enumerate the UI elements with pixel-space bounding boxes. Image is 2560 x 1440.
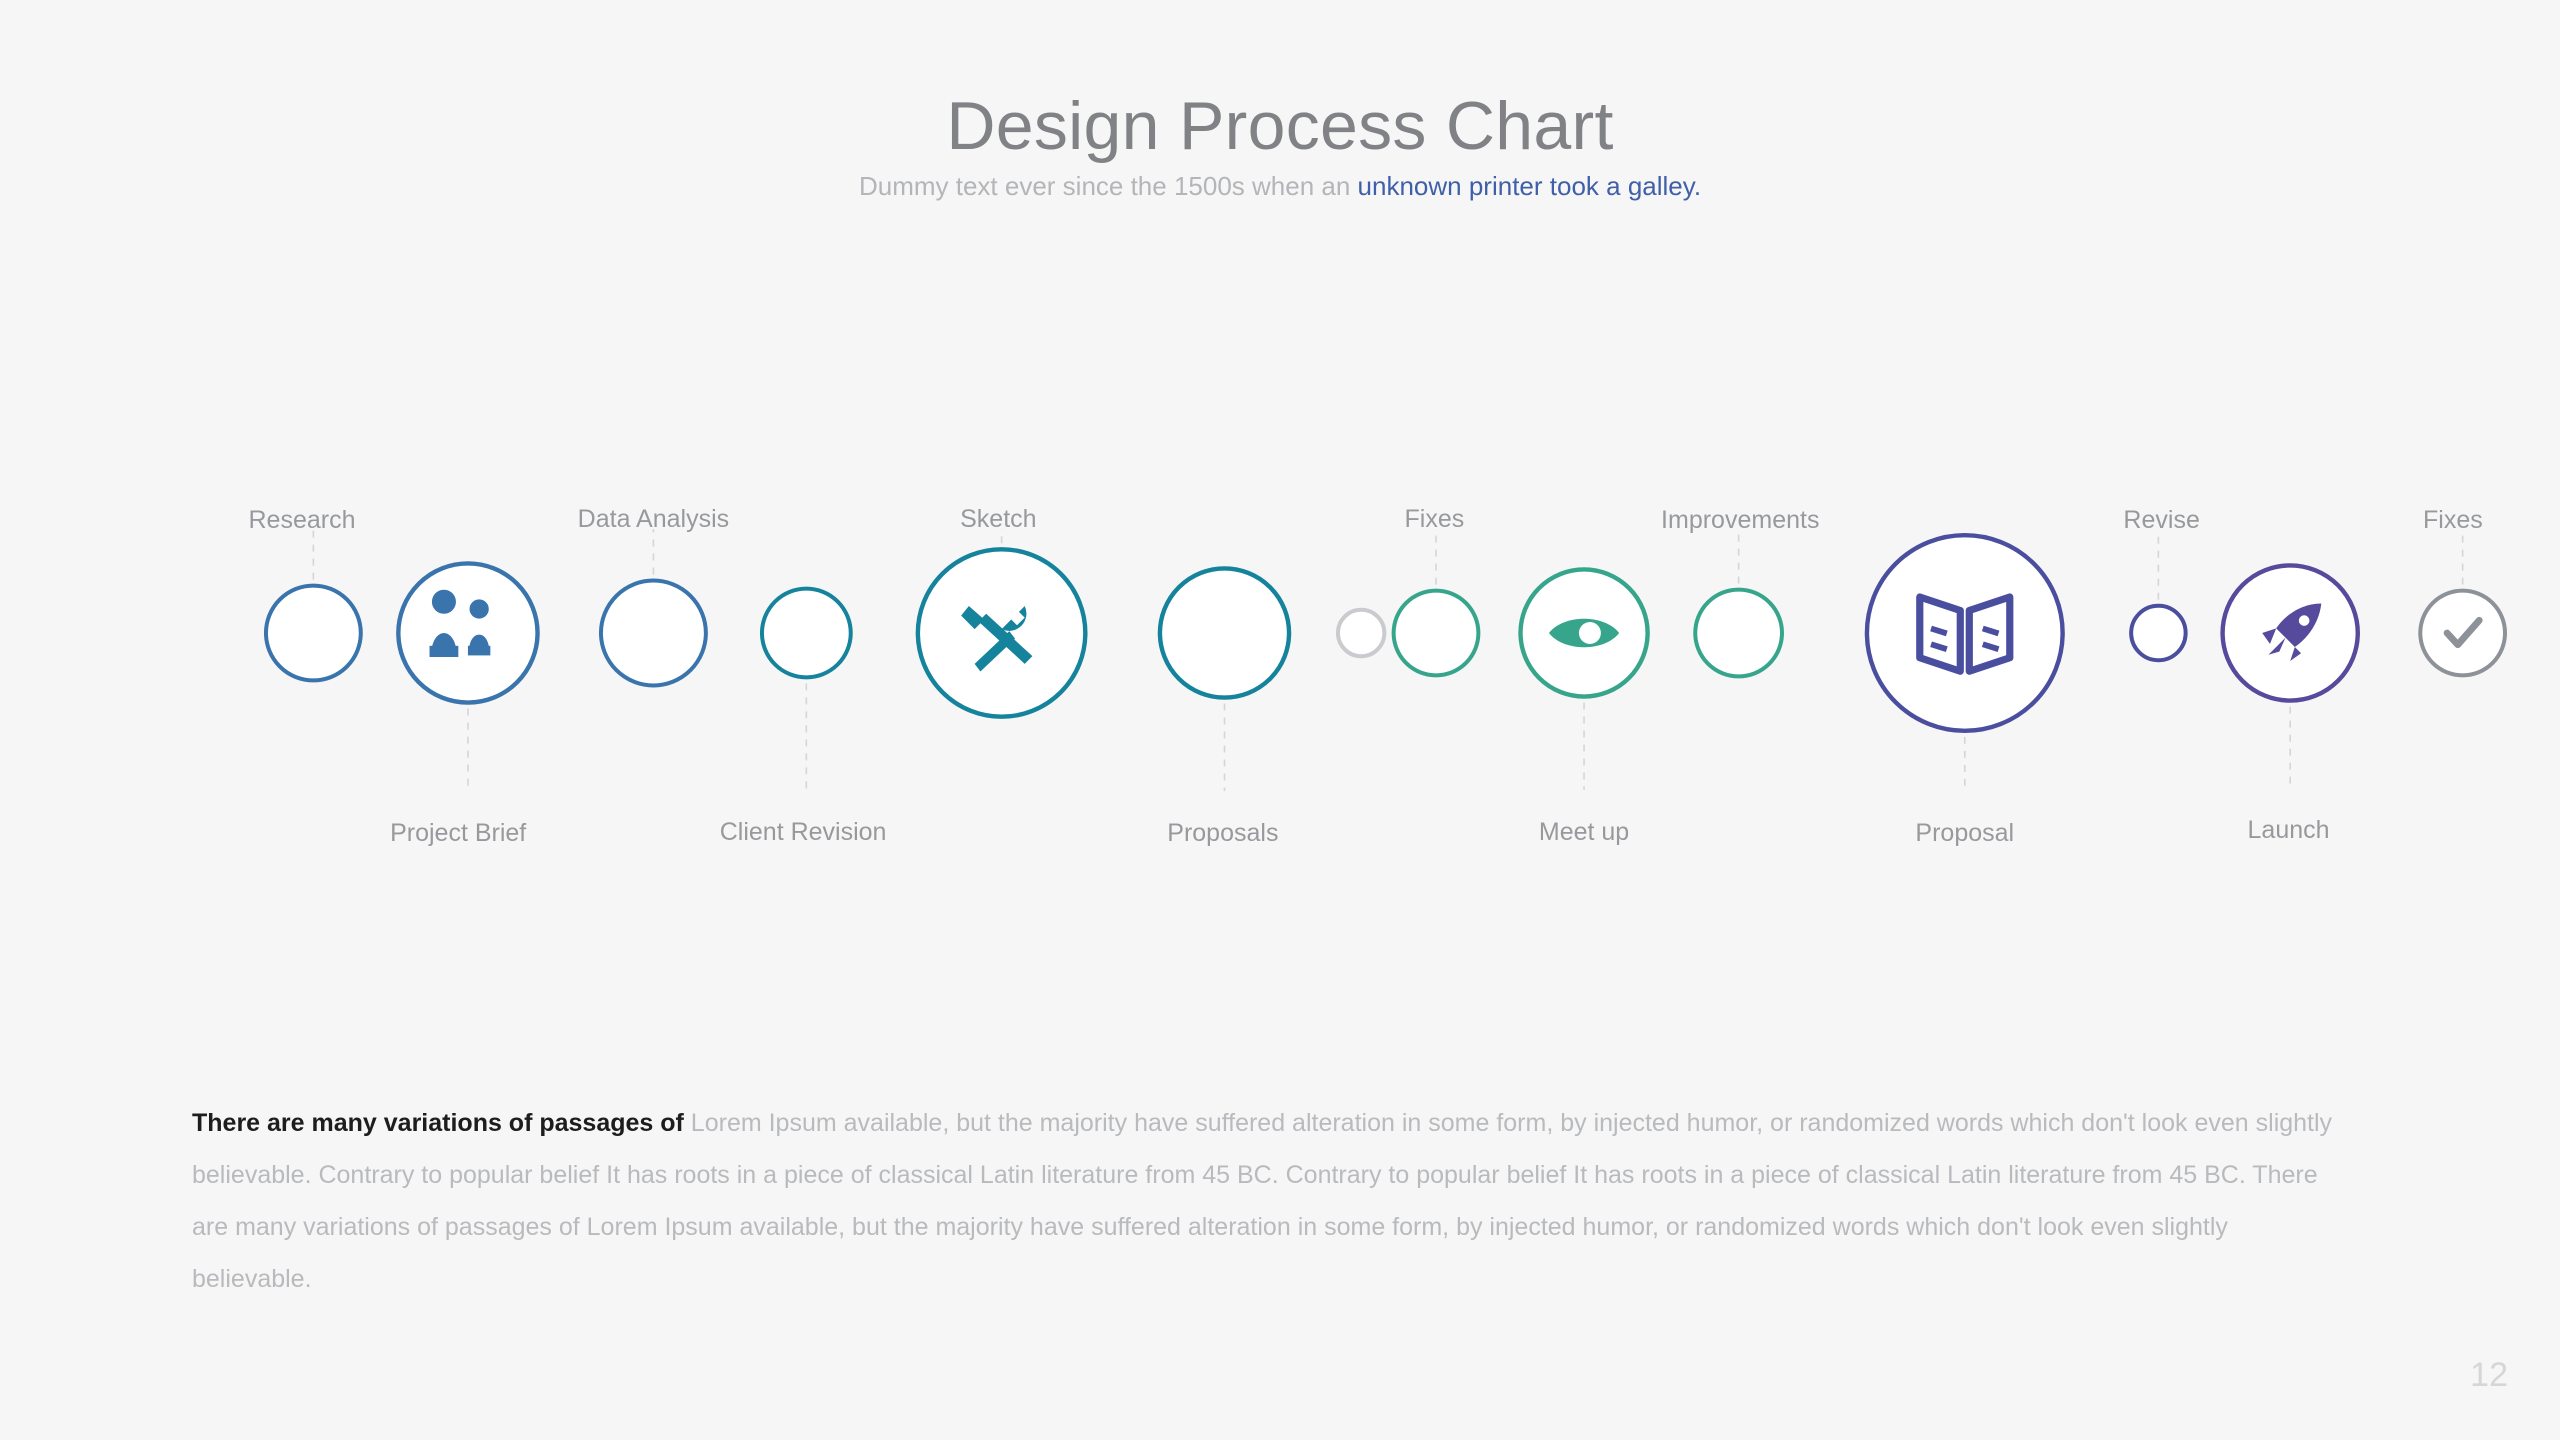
node-label-proposal: Proposal: [1915, 821, 2014, 846]
process-node-circle[interactable]: [1394, 591, 1479, 676]
node-label-proposals: Proposals: [1167, 821, 1278, 846]
node-label-revise: Revise: [2123, 508, 2199, 533]
subtitle-accent-link[interactable]: unknown printer took a galley.: [1358, 171, 1702, 201]
body-paragraph: There are many variations of passages of…: [192, 1097, 2354, 1305]
node-circles: [266, 535, 2505, 731]
node-label-fixes: Fixes: [1405, 507, 1465, 532]
header: Design Process Chart Dummy text ever sin…: [0, 90, 2560, 203]
process-node-circle[interactable]: [266, 586, 361, 681]
node-label-data-analysis: Data Analysis: [578, 507, 729, 532]
page-number: 12: [2470, 1358, 2508, 1392]
node-label-improvements: Improvements: [1661, 508, 1819, 533]
page-title: Design Process Chart: [0, 90, 2560, 163]
process-node-circle[interactable]: [762, 589, 851, 678]
process-node-circle[interactable]: [2131, 606, 2185, 660]
process-node-circle[interactable]: [1338, 610, 1384, 656]
process-node-circle[interactable]: [1695, 590, 1782, 677]
process-chart: ResearchProject BriefData AnalysisClient…: [0, 380, 2560, 1000]
body-lead-text: There are many variations of passages of: [192, 1109, 684, 1137]
process-node-circle[interactable]: [601, 581, 706, 686]
process-node-circle[interactable]: [398, 563, 537, 702]
process-node-circle[interactable]: [1867, 535, 2063, 731]
node-label-meet-up: Meet up: [1539, 820, 1629, 845]
subtitle-plain-text: Dummy text ever since the 1500s when an: [859, 171, 1358, 201]
process-node-circle[interactable]: [1160, 568, 1289, 697]
node-label-client-revision: Client Revision: [720, 820, 887, 845]
node-label-launch: Launch: [2248, 818, 2330, 843]
node-label-research: Research: [248, 508, 355, 533]
node-label-fixes: Fixes: [2423, 508, 2483, 533]
page-subtitle: Dummy text ever since the 1500s when an …: [0, 171, 2560, 202]
process-chart-canvas: [0, 380, 2560, 1000]
process-node-circle[interactable]: [2420, 591, 2505, 676]
node-label-project-brief: Project Brief: [390, 821, 526, 846]
node-label-sketch: Sketch: [960, 507, 1036, 532]
